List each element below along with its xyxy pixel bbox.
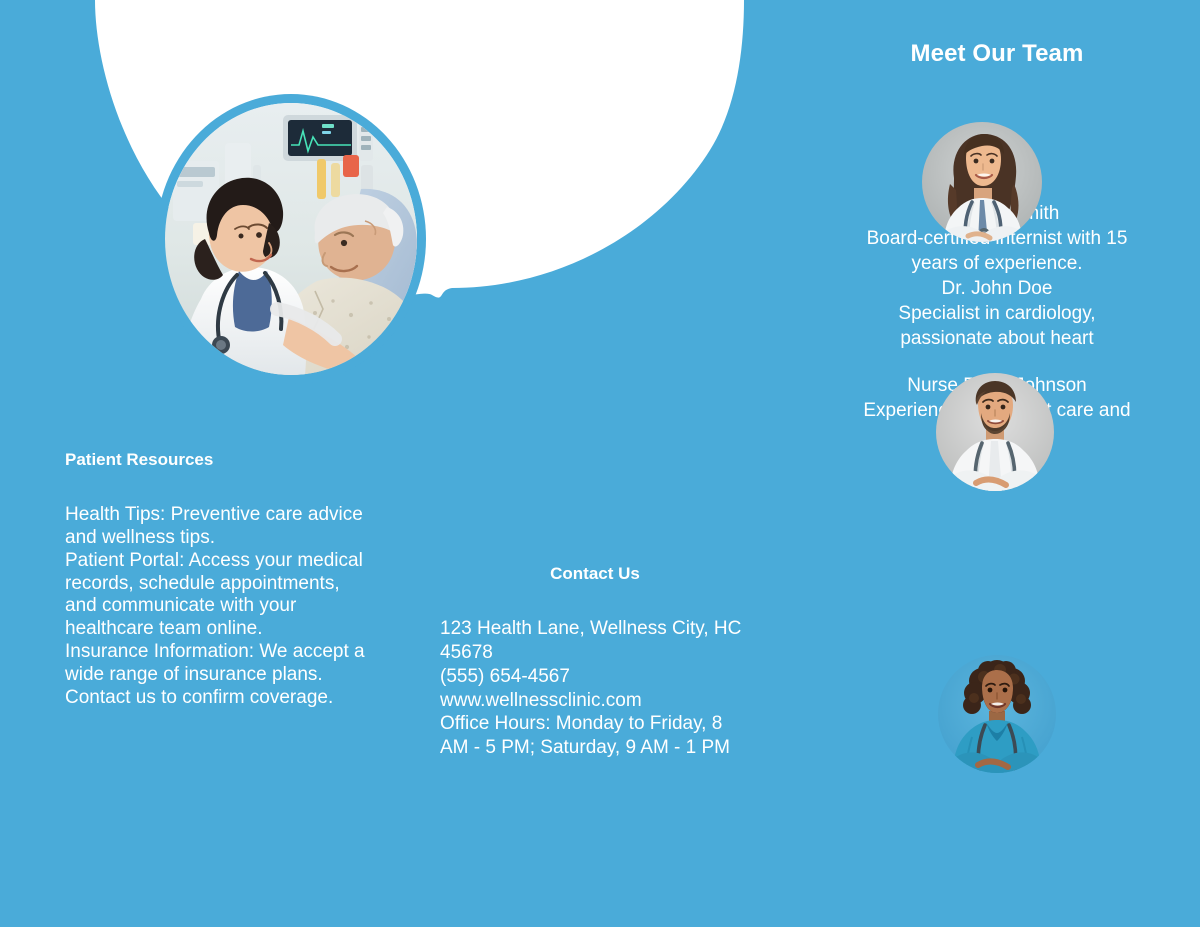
contact-us-section: Contact Us 123 Health Lane, Wellness Cit… xyxy=(440,563,750,760)
contact-us-title: Contact Us xyxy=(440,563,750,584)
contact-address: 123 Health Lane, Wellness City, HC 45678 xyxy=(440,617,750,665)
patient-resource-item-1: Health Tips: Preventive care advice and … xyxy=(65,504,365,550)
meet-our-team-title: Meet Our Team xyxy=(862,40,1132,69)
patient-resources-section: Patient Resources Health Tips: Preventiv… xyxy=(65,449,365,709)
contact-website[interactable]: www.wellnessclinic.com xyxy=(440,689,750,713)
patient-resources-list: Health Tips: Preventive care advice and … xyxy=(65,504,365,709)
patient-resources-title: Patient Resources xyxy=(65,449,365,470)
brochure-page: Meet Our Team Dr. Jane Smith Board-certi… xyxy=(0,0,1200,927)
team-text-spacer xyxy=(862,351,1132,373)
patient-resource-item-2: Patient Portal: Access your medical reco… xyxy=(65,550,365,641)
team-member-bio-2: Specialist in cardiology, passionate abo… xyxy=(862,301,1132,351)
portrait-dr-john-doe xyxy=(936,373,1054,491)
team-member-name-2: Dr. John Doe xyxy=(862,276,1132,301)
hero-photo-nurse-with-patient xyxy=(165,103,417,375)
contact-phone[interactable]: (555) 654-4567 xyxy=(440,665,750,689)
contact-office-hours: Office Hours: Monday to Friday, 8 AM - 5… xyxy=(440,712,750,760)
portrait-nurse-emily-johnson xyxy=(938,655,1056,773)
patient-resource-item-3: Insurance Information: We accept a wide … xyxy=(65,641,365,709)
contact-details: 123 Health Lane, Wellness City, HC 45678… xyxy=(440,617,750,760)
portrait-dr-jane-smith xyxy=(922,122,1042,242)
